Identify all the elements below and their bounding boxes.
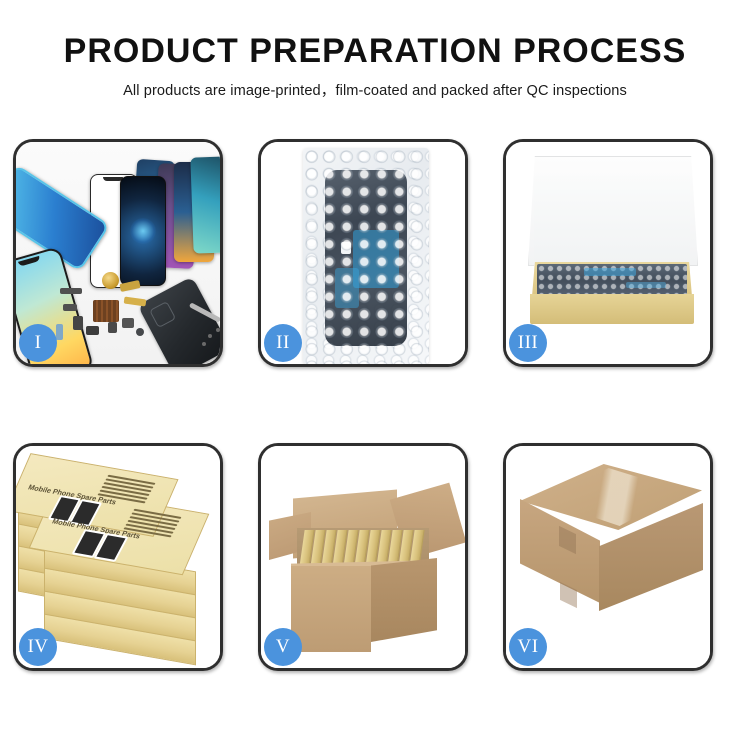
step-panel-5[interactable]: V (258, 443, 468, 671)
step-panel-2[interactable]: II (258, 139, 468, 367)
page-header: PRODUCT PREPARATION PROCESS All products… (0, 0, 750, 100)
product-blue-label-1 (584, 268, 636, 276)
chip-grid-part (93, 300, 119, 322)
small-part-6 (63, 304, 77, 311)
coil-part-icon (102, 272, 119, 289)
bubble-wrap-overlay (303, 148, 429, 364)
small-part-3 (108, 322, 117, 333)
step-badge-5: V (264, 628, 302, 666)
small-part-2 (86, 326, 99, 335)
step-badge-2: II (264, 324, 302, 362)
step-panel-4[interactable]: Mobile Phone Spare Parts Mobile Phone Sp… (13, 443, 223, 671)
page-subtitle: All products are image-printed，film-coat… (0, 79, 750, 100)
product-blue-label-2 (626, 282, 666, 288)
foam-lining (534, 176, 690, 274)
step-badge-1: I (19, 324, 57, 362)
screw-1 (208, 334, 212, 338)
phone-display-teal (190, 156, 220, 253)
step-panel-3[interactable]: III (503, 139, 713, 367)
step-badge-3: III (509, 324, 547, 362)
process-steps-grid: I II III (13, 139, 737, 671)
small-part-5 (136, 328, 144, 336)
carton-side-face (371, 558, 437, 642)
carton-front-face (291, 566, 371, 652)
small-part-1 (73, 316, 83, 330)
step-panel-1[interactable]: I (13, 139, 223, 367)
phone-screen-dark (120, 176, 166, 286)
step-badge-4: IV (19, 628, 57, 666)
step-badge-6: VI (509, 628, 547, 666)
speaker-part (60, 288, 82, 294)
screw-2 (216, 328, 220, 332)
page-title: PRODUCT PREPARATION PROCESS (0, 34, 750, 70)
step-panel-6[interactable]: VI (503, 443, 713, 671)
kraft-box-front-panel (530, 294, 694, 324)
screw-3 (202, 342, 206, 346)
small-part-7 (56, 324, 63, 340)
small-part-4 (122, 318, 134, 328)
